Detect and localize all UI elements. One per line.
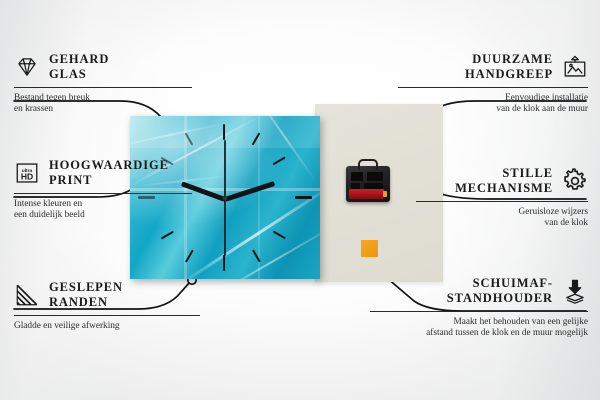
feature-description: Geruisloze wijzers van de klok bbox=[416, 207, 588, 230]
feature-title: STILLE MECHANISME bbox=[455, 166, 553, 195]
feature-description: Intense kleuren en een duidelijk beeld bbox=[14, 199, 192, 222]
divider bbox=[370, 311, 588, 312]
clock-minute-hand bbox=[224, 181, 275, 202]
divider bbox=[14, 193, 192, 194]
feature-description: Bestand tegen breuk en krassen bbox=[14, 93, 192, 116]
clock-tick bbox=[295, 196, 312, 199]
feature-title: GESLEPEN RANDEN bbox=[49, 280, 123, 309]
feature-description: Eenvoudige installatie van de klok aan d… bbox=[398, 93, 588, 116]
picture-frame-icon bbox=[562, 54, 588, 80]
feature-description: Gladde en veilige afwerking bbox=[14, 321, 200, 332]
clock-tick bbox=[273, 230, 286, 239]
clock-tick bbox=[223, 255, 225, 271]
feature-title: GEHARD GLAS bbox=[49, 52, 109, 81]
divider bbox=[14, 87, 192, 88]
feature-hoogwaardige-print: ultra HD HOOGWAARDIGE PRINT Intense kleu… bbox=[14, 158, 192, 222]
down-arrow-stack-icon bbox=[562, 278, 588, 304]
diagonal-lines-icon bbox=[14, 282, 40, 308]
feature-duurzame-handgreep: DUURZAME HANDGREEP Eenvoudige installati… bbox=[398, 52, 588, 116]
feature-gehard-glas: GEHARD GLAS Bestand tegen breuk en krass… bbox=[14, 52, 192, 116]
ultra-hd-icon: ultra HD bbox=[14, 160, 40, 186]
clock-tick bbox=[273, 156, 286, 165]
mechanism-slot bbox=[351, 172, 363, 181]
divider bbox=[14, 315, 200, 316]
clock-pivot bbox=[223, 195, 228, 200]
mechanism-slot bbox=[367, 172, 383, 181]
infographic-canvas: GEHARD GLAS Bestand tegen breuk en krass… bbox=[0, 0, 600, 400]
gear-icon bbox=[562, 168, 588, 194]
feature-title: HOOGWAARDIGE PRINT bbox=[49, 158, 169, 187]
clock-tick bbox=[161, 230, 174, 239]
feature-title: DUURZAME HANDGREEP bbox=[465, 52, 553, 81]
mechanism-hanger bbox=[358, 159, 378, 170]
feature-stille-mechanisme: STILLE MECHANISME Geruisloze wijzers van… bbox=[416, 166, 588, 230]
feature-schuimafstandhouder: SCHUIMAF- STANDHOUDER Maakt het behouden… bbox=[370, 276, 588, 340]
diamond-icon bbox=[14, 54, 40, 80]
divider bbox=[416, 201, 588, 202]
feature-geslepen-randen: GESLEPEN RANDEN Gladde en veilige afwerk… bbox=[14, 280, 200, 332]
svg-text:HD: HD bbox=[21, 171, 33, 181]
clock-mechanism bbox=[346, 166, 390, 202]
feature-description: Maakt het behouden van een gelijke afsta… bbox=[370, 317, 588, 340]
mechanism-battery bbox=[349, 189, 384, 199]
divider bbox=[398, 87, 588, 88]
foam-spacer bbox=[361, 240, 378, 257]
feature-title: SCHUIMAF- STANDHOUDER bbox=[447, 276, 553, 305]
